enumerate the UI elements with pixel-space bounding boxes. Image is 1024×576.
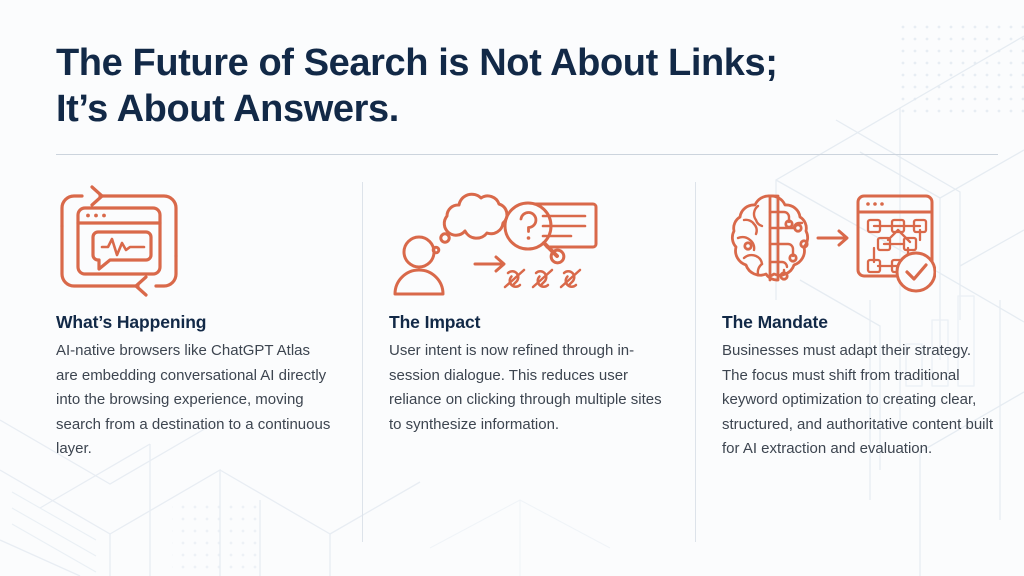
column-body: AI-native browsers like ChatGPT Atlas ar… <box>56 339 332 462</box>
column-the-mandate: The Mandate Businesses must adapt their … <box>722 182 1000 554</box>
headline-remainder: is Not About Links; <box>428 42 777 84</box>
ai-brain-to-structured-content-verified-icon <box>722 182 1000 312</box>
column-divider-1 <box>362 182 363 542</box>
column-whats-happening: What’s Happening AI-native browsers like… <box>56 182 334 554</box>
page-title: The Future of Search is Not About Links;… <box>56 40 936 132</box>
column-body: Businesses must adapt their strategy. Th… <box>722 339 1000 462</box>
columns-container: What’s Happening AI-native browsers like… <box>0 182 1024 554</box>
header-divider <box>56 154 998 155</box>
column-title: What’s Happening <box>56 312 334 333</box>
browser-chat-pulse-refresh-icon <box>56 182 334 312</box>
column-title: The Mandate <box>722 312 1000 333</box>
column-divider-2 <box>695 182 696 542</box>
column-title: The Impact <box>389 312 667 333</box>
headline-emphasis: The Future of Search <box>56 42 428 84</box>
headline-line-two: It’s About Answers. <box>56 86 936 132</box>
person-thought-to-search-broken-links-icon <box>389 182 667 312</box>
column-the-impact: The Impact User intent is now refined th… <box>389 182 667 554</box>
column-body: User intent is now refined through in-se… <box>389 339 665 437</box>
